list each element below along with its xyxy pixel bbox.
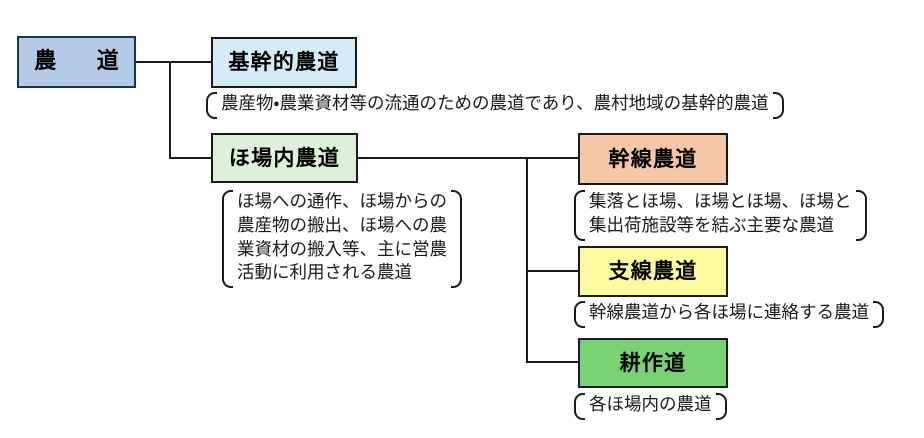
connector-to-kosakudo: [526, 361, 579, 363]
connector-to-kansen: [526, 157, 579, 159]
description-line: 幹線農道から各ほ場に連絡する農道: [589, 302, 869, 326]
description-hojonai: ほ場への通作、ほ場からの農産物の搬出、ほ場への農業資材の搬入等、主に営農活動に利…: [222, 190, 462, 288]
description-line: ほ場への通作、ほ場からの: [237, 191, 447, 215]
description-line: 農産物の搬出、ほ場への農: [237, 215, 447, 239]
description-line: 各ほ場内の農道: [589, 394, 712, 418]
bracket-right-icon: [716, 393, 727, 420]
bracket-right-icon: [856, 190, 867, 241]
node-nodo[interactable]: 農 道: [17, 36, 136, 88]
description-text: 農産物・農業資材等の流通のための農道であり、農村地域の基幹的農道: [217, 92, 773, 119]
connector-hojonai-stub: [358, 157, 528, 159]
description-text: 各ほ場内の農道: [585, 393, 716, 420]
node-shisen[interactable]: 支線農道: [578, 246, 728, 297]
description-line: 農産物・農業資材等の流通のための農道であり、農村地域の基幹的農道: [221, 93, 769, 117]
node-kikanteki[interactable]: 基幹的農道: [211, 37, 357, 88]
description-shisen: 幹線農道から各ほ場に連絡する農道: [574, 301, 884, 328]
description-kansen: 集落とほ場、ほ場とほ場、ほ場と集出荷施設等を結ぶ主要な農道: [574, 190, 867, 241]
connector-nodo-spine: [169, 61, 171, 158]
description-line: 業資材の搬入等、主に営農: [237, 239, 447, 263]
bracket-right-icon: [873, 301, 884, 328]
bracket-left-icon: [574, 301, 585, 328]
description-line: 集出荷施設等を結ぶ主要な農道: [589, 215, 852, 239]
description-text: 集落とほ場、ほ場とほ場、ほ場と集出荷施設等を結ぶ主要な農道: [585, 190, 856, 241]
description-text: 幹線農道から各ほ場に連絡する農道: [585, 301, 873, 328]
connector-to-kikanteki: [169, 61, 212, 63]
bracket-right-icon: [773, 92, 784, 119]
description-line: 集落とほ場、ほ場とほ場、ほ場と: [589, 191, 852, 215]
diagram-canvas: 農 道 基幹的農道 ほ場内農道 幹線農道 支線農道 耕作道 農産物・農業資材等の…: [0, 0, 924, 438]
bracket-right-icon: [451, 190, 462, 288]
node-kosakudo[interactable]: 耕作道: [578, 338, 728, 388]
connector-right-spine: [526, 157, 528, 363]
connector-nodo-stub: [136, 61, 171, 63]
bracket-left-icon: [206, 92, 217, 119]
connector-to-hojonai: [169, 157, 212, 159]
description-text: ほ場への通作、ほ場からの農産物の搬出、ほ場への農業資材の搬入等、主に営農活動に利…: [233, 190, 451, 288]
node-hojonai[interactable]: ほ場内農道: [211, 133, 358, 183]
description-kosakudo: 各ほ場内の農道: [574, 393, 727, 420]
connector-to-shisen: [526, 270, 579, 272]
description-kikanteki: 農産物・農業資材等の流通のための農道であり、農村地域の基幹的農道: [206, 92, 784, 119]
node-kansen[interactable]: 幹線農道: [578, 133, 728, 185]
bracket-left-icon: [222, 190, 233, 288]
bracket-left-icon: [574, 393, 585, 420]
description-line: 活動に利用される農道: [237, 262, 447, 286]
bracket-left-icon: [574, 190, 585, 241]
